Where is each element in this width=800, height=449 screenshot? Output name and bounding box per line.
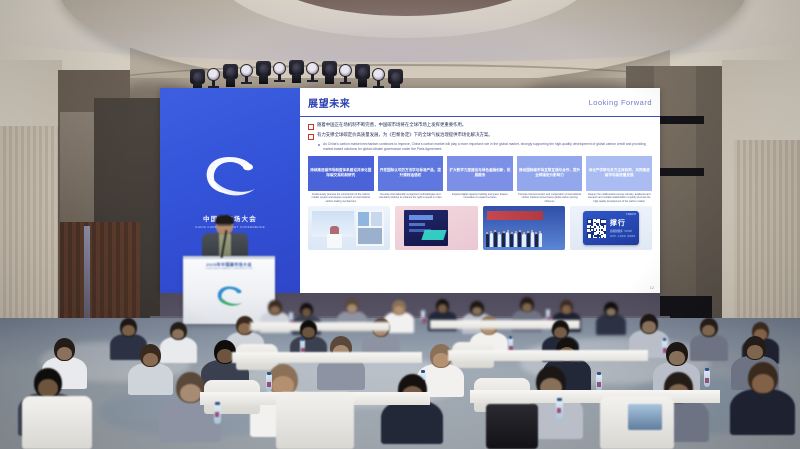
bottle-cap <box>705 368 709 371</box>
slide-box-title: 开发国际认可的方法学与标准产品，提升规则话语权 <box>378 156 444 191</box>
slide-photo-row: 中国碳市场 撑行 高端智能库（CTO） 碳排放 · 交易政策 · 数据服务 <box>300 203 660 250</box>
podium: 2025年中国碳市场大会 CHINA CARBON MARKET CONFERE… <box>183 256 275 324</box>
moving-head-light-icon <box>355 64 370 88</box>
moving-head-light-icon <box>289 60 304 84</box>
audience-shoulders <box>730 389 795 435</box>
podium-title-en: CHINA CARBON MARKET CONFERENCE 2025 <box>183 268 275 270</box>
slide-box-caption: Expand digital capacity building and gre… <box>447 193 513 200</box>
audience-face <box>606 308 616 317</box>
qr-card-sub: 高端智能库（CTO） <box>610 229 634 233</box>
audience-face <box>394 306 404 315</box>
par-light-icon <box>240 62 253 84</box>
subbullet-dot-icon <box>318 144 320 146</box>
slide-title-en: Looking Forward <box>589 98 652 107</box>
audience-face <box>302 308 312 316</box>
bullet-square-icon <box>308 134 314 140</box>
audience-table <box>232 352 422 363</box>
moving-head-light-icon <box>322 61 337 85</box>
slide-bullet: 随着中国正在场机制不断完善，中国碳市场将在全球市场上发挥更重要作用。 <box>308 122 652 130</box>
slide-box-caption: Deepen the collaboration among industry,… <box>586 193 652 204</box>
moving-head-light-icon <box>223 64 238 88</box>
bullet-square-icon <box>308 124 314 130</box>
qr-card-footer: 碳排放 · 交易政策 · 数据服务 <box>610 235 636 238</box>
par-light-icon <box>273 60 286 82</box>
audience-table <box>448 350 648 361</box>
slide-box-caption: Develop internationally recognized metho… <box>378 193 444 200</box>
group-photo <box>483 206 565 250</box>
slide-box-caption: Promote interconnection and cooperation … <box>517 193 583 204</box>
conference-logo-icon <box>199 153 261 205</box>
bottle-cap <box>597 372 601 375</box>
slide-title-cn: 展望未来 <box>308 95 350 110</box>
audience-face <box>642 321 655 332</box>
audience-table <box>250 322 390 331</box>
water-bottle <box>421 310 425 322</box>
slide-box-2: 开发国际认可的方法学与标准产品，提升规则话语权Develop internati… <box>378 156 444 204</box>
bullet-text: 有力支撑全球碳定价高质量发展，为《巴黎协定》下的全球气候治理提供市场化解决方案。 <box>317 132 493 138</box>
slide-bullet-list: 随着中国正在场机制不断完善，中国碳市场将在全球市场上发挥更重要作用。 有力支撑全… <box>300 117 660 152</box>
audience-chair <box>276 392 354 449</box>
par-light-icon <box>207 66 220 88</box>
slide-box-3: 扩大数字力度建设与绿色金融创新，拓展服务Expand digital capac… <box>447 156 513 204</box>
slide-page-number: 12 <box>650 285 654 290</box>
bottle-cap <box>421 370 425 373</box>
speaker-glasses <box>217 223 232 226</box>
slide-subbullet: As China's carbon market mechanism conti… <box>318 142 652 152</box>
slide-content-panel: 展望未来 Looking Forward 随着中国正在场机制不断完善，中国碳市场… <box>300 88 660 293</box>
audience-face <box>57 347 72 360</box>
conference-stage-photo <box>308 206 390 250</box>
moving-head-light-icon <box>256 61 271 85</box>
laptop-bag <box>486 404 538 449</box>
podium-logo-icon <box>214 284 244 310</box>
audience-shoulders <box>381 400 443 444</box>
bottle-cap <box>663 338 666 341</box>
audience-face <box>669 351 685 365</box>
audience-face <box>217 349 233 363</box>
slide-bullet: 有力支撑全球碳定价高质量发展，为《巴黎协定》下的全球气候治理提供市场化解决方案。 <box>308 132 652 140</box>
audience-face <box>270 306 280 315</box>
bottle-cap <box>267 372 271 375</box>
phone-screen <box>628 404 662 430</box>
audience-shoulders <box>128 363 174 395</box>
bottle-cap <box>215 402 220 406</box>
water-bottle <box>266 374 272 391</box>
audience-shoulders <box>160 337 196 363</box>
audience-face <box>347 304 357 313</box>
qr-code-icon <box>587 219 606 238</box>
bottle-cap <box>301 338 304 341</box>
audience-face <box>522 303 532 312</box>
water-bottle <box>596 374 602 391</box>
audience-face <box>38 379 58 397</box>
audience-chair <box>22 396 92 449</box>
audience-face <box>554 327 566 338</box>
bottle-cap <box>509 336 512 339</box>
slide-box-title: 深化产学研与多方主体协同，共同推进碳市场高质量发展 <box>586 156 652 191</box>
audience-face <box>143 353 158 366</box>
slide-box-5: 深化产学研与多方主体协同，共同推进碳市场高质量发展Deepen the coll… <box>586 156 652 204</box>
audience-face <box>562 305 572 313</box>
audience-face <box>747 345 763 359</box>
report-cover-photo <box>395 206 477 250</box>
water-bottle <box>704 370 710 387</box>
water-bottle <box>556 400 563 420</box>
subbullet-text: As China's carbon market mechanism conti… <box>323 142 652 152</box>
audience-face <box>433 353 449 367</box>
audience-shoulders <box>690 334 728 361</box>
qr-card-headline: 撑行 <box>610 218 626 228</box>
audience-face <box>302 327 314 338</box>
audience-face <box>122 325 134 336</box>
audience-face <box>752 374 774 393</box>
audience-table <box>470 390 720 403</box>
qr-card-photo: 中国碳市场 撑行 高端智能库（CTO） 碳排放 · 交易政策 · 数据服务 <box>570 206 652 250</box>
slide-header: 展望未来 Looking Forward <box>300 88 660 117</box>
par-light-icon <box>372 66 385 88</box>
audience-face <box>438 304 448 312</box>
slide-box-row: 持续推进碳市场制度体系建设并深化国际碳交易机制研究Continuously pr… <box>300 152 660 204</box>
conference-hall-photo: 中国碳市场大会 CHINA CARBON MARKET CONFERENCE 展… <box>0 0 800 449</box>
bullet-text: 随着中国正在场机制不断完善，中国碳市场将在全球市场上发挥更重要作用。 <box>317 122 466 128</box>
audience-face <box>472 307 482 316</box>
par-light-icon <box>339 62 352 84</box>
audience-shoulders <box>596 314 626 335</box>
slide-box-caption: Continuously promote the construction of… <box>308 193 374 204</box>
par-light-icon <box>306 60 319 82</box>
slide-box-title: 扩大数字力度建设与绿色金融创新，拓展服务 <box>447 156 513 191</box>
podium-top-edge <box>183 256 275 259</box>
bottle-cap <box>557 398 562 402</box>
ceiling-light-wash <box>0 0 800 62</box>
slide-box-title: 推动国际碳市场互联互通与合作，提升全球碳定价影响力 <box>517 156 583 191</box>
water-bottle <box>214 404 221 424</box>
audience-face <box>180 384 201 402</box>
slide-box-1: 持续推进碳市场制度体系建设并深化国际碳交易机制研究Continuously pr… <box>308 156 374 204</box>
slide-box-title: 持续推进碳市场制度体系建设并深化国际碳交易机制研究 <box>308 156 374 191</box>
slide-box-4: 推动国际碳市场互联互通与合作，提升全球碳定价影响力Promote interco… <box>517 156 583 204</box>
